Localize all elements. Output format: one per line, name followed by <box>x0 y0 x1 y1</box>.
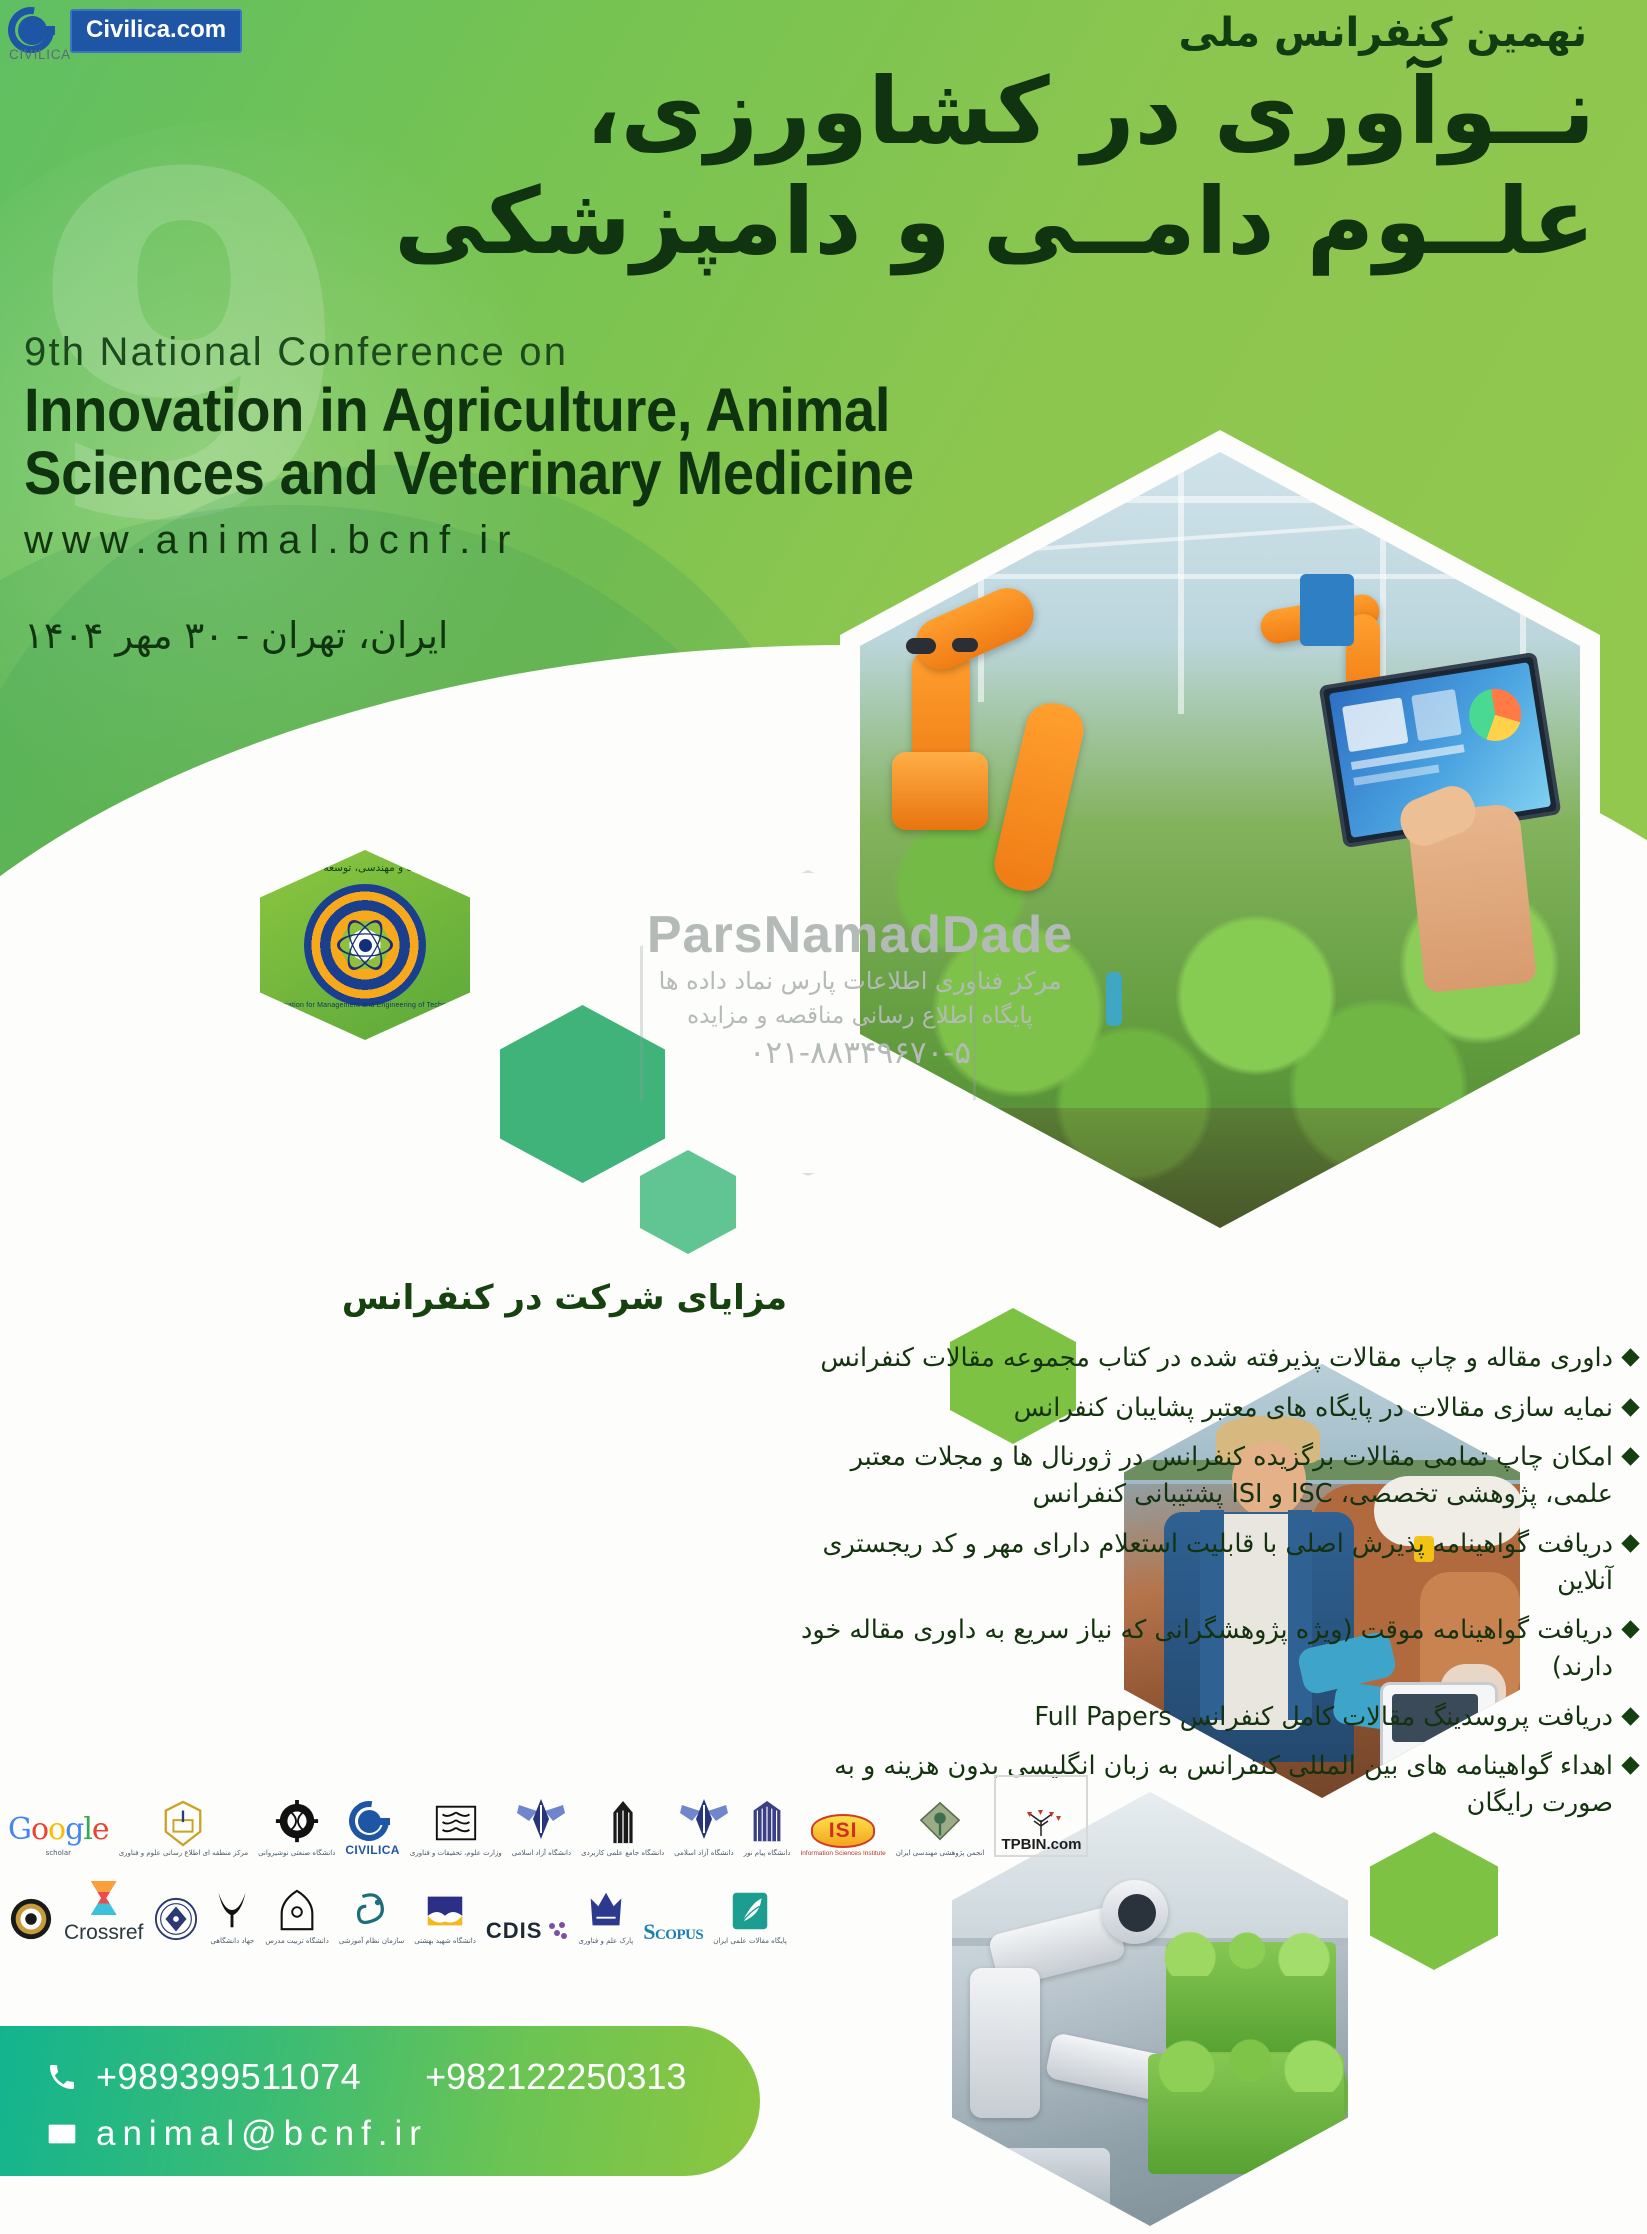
benefit-text: دریافت پروسدینگ مقالات کامل کنفرانس Full… <box>1034 1699 1613 1736</box>
benefits-list: داوری مقاله و چاپ مقالات پذیرفته شده در … <box>797 1340 1637 1835</box>
conference-url[interactable]: www.animal.bcnf.ir <box>24 518 991 563</box>
bullet-diamond-icon <box>1621 1707 1639 1725</box>
crossref-logo: Crossref <box>64 1871 143 1945</box>
bullet-diamond-icon <box>1621 1348 1639 1366</box>
tree-icon <box>1018 1810 1064 1836</box>
en-kicker: 9th National Conference on <box>24 330 991 375</box>
en-title-line1: Innovation in Agriculture, Animal <box>24 379 914 442</box>
benefit-text: دریافت گواهینامه موقت (ویژه پژوهشگرانی ک… <box>797 1612 1613 1685</box>
envelope-icon <box>44 2116 80 2152</box>
fa-title-line1: نــوآوری در کشاورزی، <box>586 58 1595 165</box>
civilica-wordmark: CIVILICA <box>9 47 71 62</box>
benefit-item: امکان چاپ تمامی مقالات برگزیده کنفرانس د… <box>797 1439 1637 1512</box>
en-title-line2: Sciences and Veterinary Medicine <box>24 442 914 505</box>
sponsor-logos: Google scholar مرکز منطقه ای اطلاع رسانی… <box>8 1775 888 1959</box>
crown-tower-icon <box>744 1799 790 1847</box>
network-dots-icon <box>546 1920 568 1942</box>
deco-hex-4 <box>640 1150 736 1254</box>
diamond-emblem-icon <box>917 1799 963 1847</box>
tower-icon <box>600 1799 646 1847</box>
tarbiat-modares-logo: دانشگاه تربیت مدرس <box>265 1871 328 1945</box>
contact-footer: +989399511074 +982122250313 animal@bcnf.… <box>0 2026 760 2176</box>
ministry-science-logo: وزارت علوم، تحقیقات و فناوری <box>410 1783 502 1857</box>
civilica-logo: CIVILICA <box>345 1783 400 1857</box>
benefit-item: دریافت پروسدینگ مقالات کامل کنفرانس Full… <box>797 1699 1637 1736</box>
benefit-text: نمایه سازی مقالات در پایگاه های معتبر پش… <box>1014 1390 1613 1427</box>
civilica-logo-icon: CIVILICA <box>8 5 62 57</box>
google-scholar-logo: Google scholar <box>8 1783 109 1857</box>
crown-book-icon <box>583 1887 629 1935</box>
deco-hex-3 <box>1370 1832 1498 1970</box>
science-tech-park-logo: پارک علم و فناوری <box>578 1871 633 1945</box>
conference-poster: 9 CIVILICA Civilica.com نهمین کنفرانس مل… <box>0 0 1647 2234</box>
bullet-diamond-icon <box>1621 1398 1639 1416</box>
seal-icon <box>8 1895 54 1943</box>
benefit-item: دریافت گواهینامه موقت (ویژه پژوهشگرانی ک… <box>797 1612 1637 1685</box>
benefits-title: مزایای شرکت در کنفرانس <box>342 1278 787 1318</box>
sponsor-row-1: Google scholar مرکز منطقه ای اطلاع رسانی… <box>8 1775 888 1857</box>
isi-logo: ISI Information Sciences Institute <box>800 1783 885 1857</box>
research-institute-logo: انجمن پژوهشی مهندسی ایران <box>896 1783 985 1857</box>
azad-university-logo-1: دانشگاه آزاد اسلامی <box>512 1783 571 1857</box>
academic-seal-logo <box>8 1871 54 1945</box>
crossref-mark-icon <box>91 1881 117 1915</box>
phone-number-1[interactable]: +989399511074 <box>96 2056 361 2098</box>
civilica-url-pill: Civilica.com <box>70 9 242 53</box>
civilica-watermark-badge: CIVILICA Civilica.com <box>8 5 242 57</box>
phone-row: +989399511074 +982122250313 <box>44 2056 686 2098</box>
benefit-item: دریافت گواهینامه پذیرش اصلی با قابلیت اس… <box>797 1526 1637 1599</box>
shahid-beheshti-logo: دانشگاه شهید بهشتی <box>414 1871 476 1945</box>
english-title-block: 9th National Conference on Innovation in… <box>24 330 991 563</box>
benefit-item: داوری مقاله و چاپ مقالات پذیرفته شده در … <box>797 1340 1637 1377</box>
deco-hex-1 <box>500 1005 665 1183</box>
benefit-text: امکان چاپ تمامی مقالات برگزیده کنفرانس د… <box>797 1439 1613 1512</box>
cdis-logo: CDIS <box>486 1871 569 1945</box>
association-en-text: Association for Management and Engineeri… <box>266 1002 464 1009</box>
bullet-diamond-icon <box>1621 1621 1639 1639</box>
calligraphy-icon <box>349 1887 395 1935</box>
scopus-logo: Scopus <box>643 1871 703 1945</box>
benefit-item: نمایه سازی مقالات در پایگاه های معتبر پش… <box>797 1390 1637 1427</box>
email-address[interactable]: animal@bcnf.ir <box>96 2114 428 2154</box>
open-book-icon <box>433 1799 479 1847</box>
tpbin-logo: TPBIN.com <box>994 1775 1088 1857</box>
conference-date-location: ایران، تهران - ۳۰ مهر ۱۴۰۴ <box>24 614 448 657</box>
fa-title-line2: علــوم دامــی و دامپزشکی <box>394 168 1595 275</box>
applied-science-university-logo: دانشگاه جامع علمی کاربردی <box>581 1783 664 1857</box>
atom-icon <box>337 917 393 973</box>
civilica-c-icon <box>349 1801 397 1843</box>
education-system-logo: سازمان نظام آموزشی <box>339 1871 404 1945</box>
benefit-text: داوری مقاله و چاپ مقالات پذیرفته شده در … <box>820 1340 1613 1377</box>
sponsor-row-2: Crossref جهاد دانشگاهی <box>8 1871 888 1945</box>
phone-number-2[interactable]: +982122250313 <box>425 2056 686 2098</box>
ministry-education-logo: جهاد دانشگاهی <box>209 1871 255 1945</box>
fa-kicker: نهمین کنفرانس ملی <box>1178 10 1587 56</box>
azad-university-logo-2: دانشگاه آزاد اسلامی <box>674 1783 733 1857</box>
shield-book-icon <box>160 1799 206 1847</box>
email-row: animal@bcnf.ir <box>44 2114 428 2154</box>
azad-wings-icon <box>678 1795 730 1847</box>
bullet-diamond-icon <box>1621 1534 1639 1552</box>
industrial-university-logo: دانشگاه صنعتی نوشیروانی <box>258 1783 335 1857</box>
bullet-diamond-icon <box>1621 1448 1639 1466</box>
gear-dna-icon <box>274 1799 320 1847</box>
tulip-icon <box>209 1887 255 1935</box>
payame-noor-logo: دانشگاه پیام نور <box>744 1783 791 1857</box>
circular-emblem-icon <box>153 1895 199 1943</box>
benefit-text: دریافت گواهینامه پذیرش اصلی با قابلیت اس… <box>797 1526 1613 1599</box>
phone-icon <box>44 2059 80 2095</box>
arch-icon <box>274 1887 320 1935</box>
research-council-logo <box>153 1871 199 1945</box>
bullet-diamond-icon <box>1621 1757 1639 1775</box>
university-logo-1: مرکز منطقه ای اطلاع رسانی علوم و فناوری <box>119 1783 248 1857</box>
book-wave-icon <box>422 1887 468 1935</box>
leaf-book-icon <box>727 1887 773 1935</box>
azad-wings-icon <box>515 1795 567 1847</box>
article-database-logo: پایگاه مقالات علمی ایران <box>713 1871 787 1945</box>
